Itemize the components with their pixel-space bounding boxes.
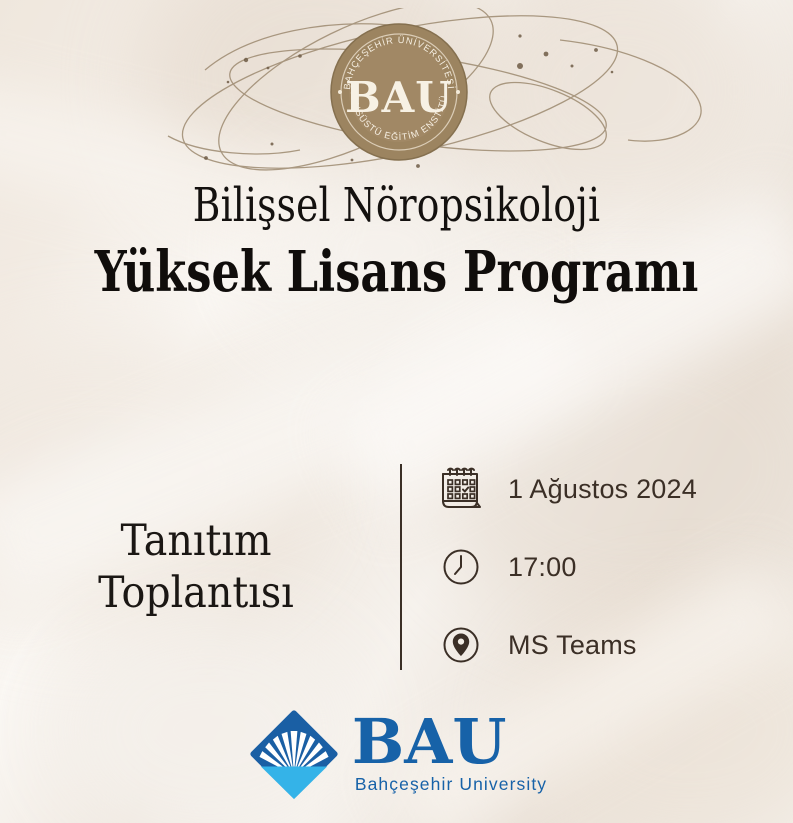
event-type-line1: Tanıtım bbox=[16, 515, 377, 567]
clock-icon bbox=[436, 542, 486, 592]
event-time-value: 17:00 bbox=[508, 552, 577, 583]
calendar-icon bbox=[436, 464, 486, 514]
bau-footer-logo: BAU Bahçeşehir University bbox=[0, 706, 793, 802]
bau-wordmark: BAU bbox=[352, 713, 507, 772]
bau-subtitle: Bahçeşehir University bbox=[355, 774, 547, 795]
event-date-value: 1 Ağustos 2024 bbox=[508, 474, 697, 505]
event-type-line2: Toplantısı bbox=[16, 567, 377, 619]
event-location-value: MS Teams bbox=[508, 630, 637, 661]
event-details-list: 1 Ağustos 2024 17:00 MS Teams bbox=[436, 464, 697, 670]
event-detail-date: 1 Ağustos 2024 bbox=[436, 464, 697, 514]
title-block: Bilişsel Nöropsikoloji Yüksek Lisans Pro… bbox=[0, 180, 793, 303]
decorative-swirls-icon: BAHÇEŞEHİR ÜNİVERSİTESİ LİSANSÜSTÜ EĞİTİ… bbox=[0, 8, 793, 176]
event-type-label: Tanıtım Toplantısı bbox=[16, 515, 377, 620]
university-seal: BAHÇEŞEHİR ÜNİVERSİTESİ LİSANSÜSTÜ EĞİTİ… bbox=[0, 8, 793, 176]
program-subject-title: Bilişsel Nöropsikoloji bbox=[79, 180, 713, 233]
location-pin-icon bbox=[436, 620, 486, 670]
vertical-divider bbox=[400, 464, 402, 670]
event-detail-time: 17:00 bbox=[436, 542, 697, 592]
event-detail-location: MS Teams bbox=[436, 620, 697, 670]
seal-center-text: BAU bbox=[345, 73, 453, 122]
poster: BAHÇEŞEHİR ÜNİVERSİTESİ LİSANSÜSTÜ EĞİTİ… bbox=[0, 0, 793, 823]
program-degree-title: Yüksek Lisans Programı bbox=[79, 241, 713, 304]
event-info-row: Tanıtım Toplantısı bbox=[0, 452, 793, 682]
bau-diamond-logo-icon bbox=[246, 706, 342, 802]
